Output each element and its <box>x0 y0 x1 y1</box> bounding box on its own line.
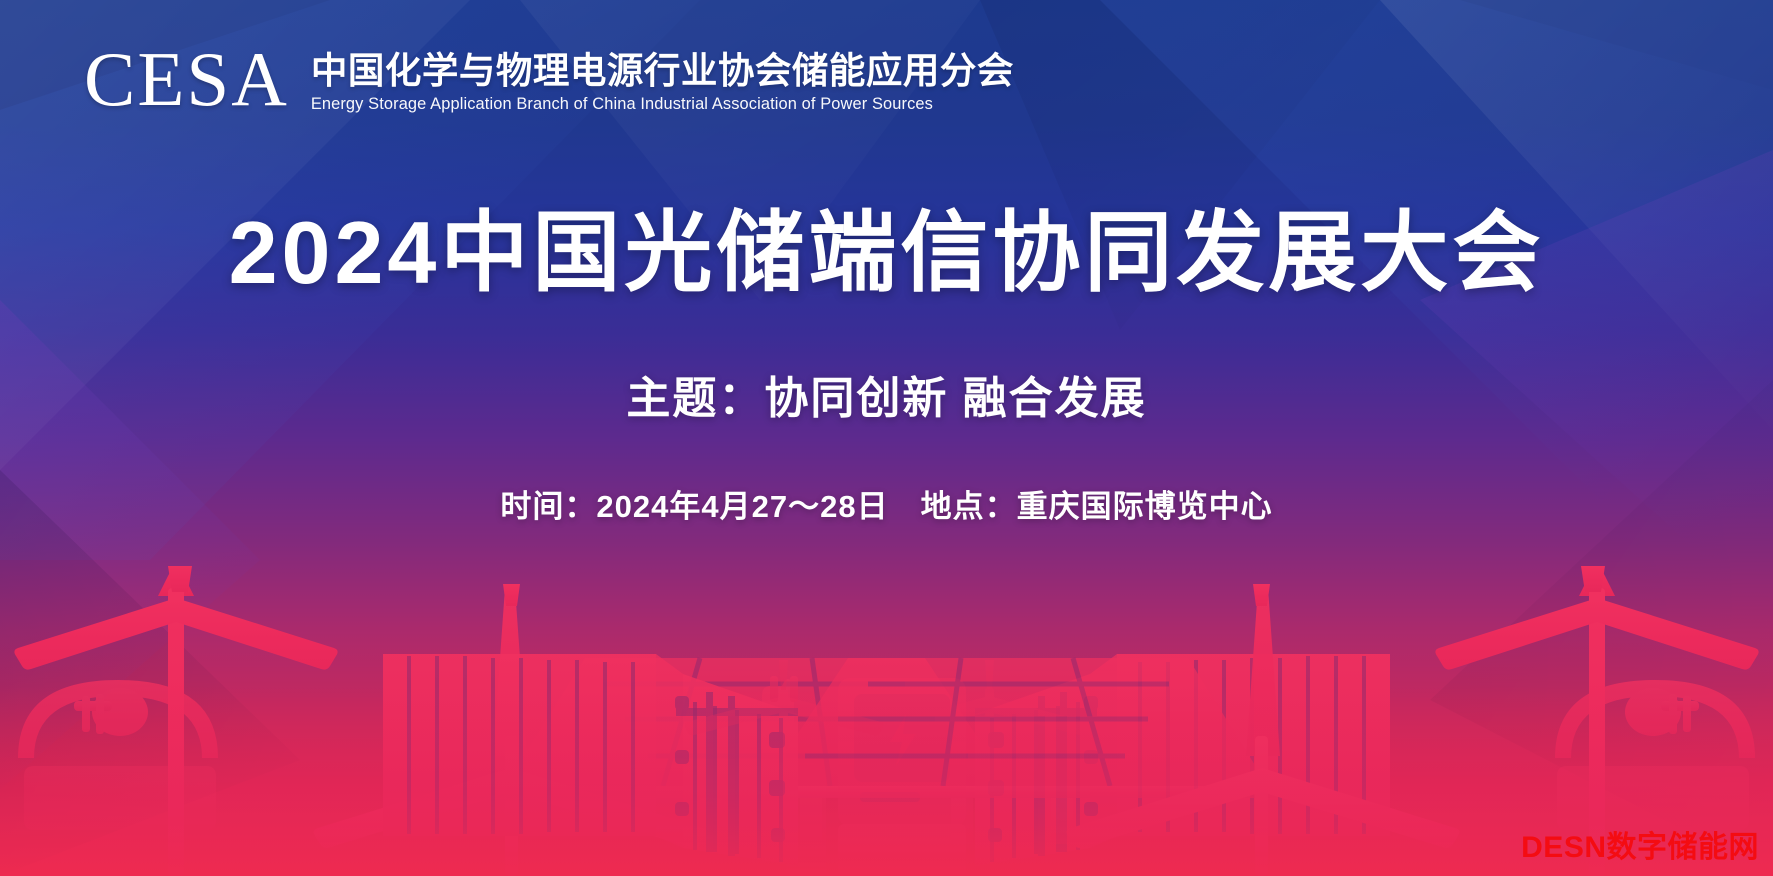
energy-silhouette-scene <box>0 536 1773 876</box>
association-names: 中国化学与物理电源行业协会储能应用分会 Energy Storage Appli… <box>311 47 1014 115</box>
conference-banner: CESA 中国化学与物理电源行业协会储能应用分会 Energy Storage … <box>0 0 1773 876</box>
cesa-logo-block: CESA 中国化学与物理电源行业协会储能应用分会 Energy Storage … <box>84 47 1014 115</box>
conference-theme: 主题：协同创新 融合发展 <box>0 362 1773 426</box>
association-name-en: Energy Storage Application Branch of Chi… <box>311 95 1014 115</box>
cesa-wordmark: CESA <box>84 43 289 115</box>
conference-date-venue: 时间：2024年4月27～28日 地点：重庆国际博览中心 <box>0 481 1773 526</box>
conference-title: 2024中国光储端信协同发展大会 <box>0 205 1773 302</box>
site-watermark: DESN数字储能网 <box>1521 822 1759 866</box>
association-name-cn: 中国化学与物理电源行业协会储能应用分会 <box>311 51 1014 90</box>
ground-haze <box>0 686 1773 876</box>
